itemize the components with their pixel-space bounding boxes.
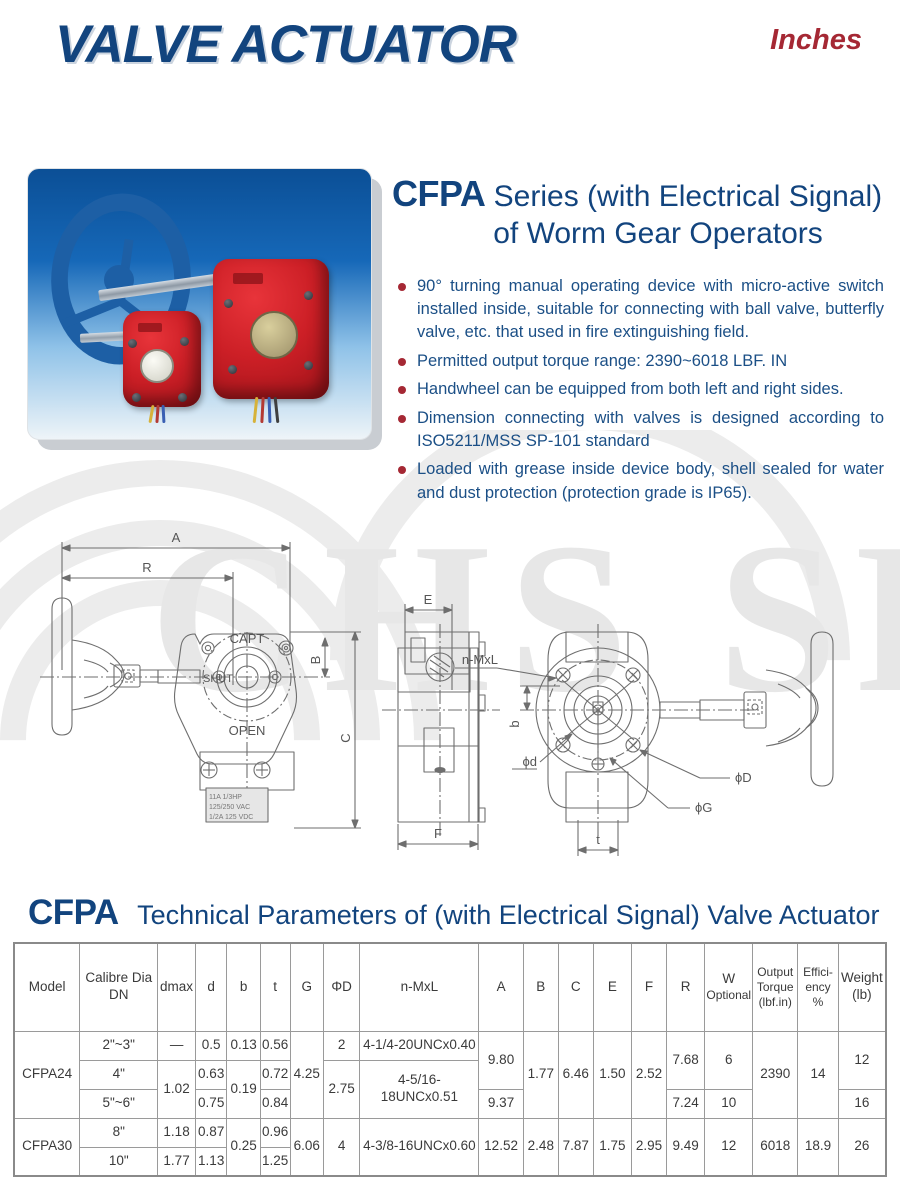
product-photo — [27, 168, 372, 440]
cell-b: 0.13 — [227, 1031, 260, 1060]
cell-model: CFPA24 — [14, 1031, 80, 1118]
col-header-g: G — [290, 943, 323, 1031]
cell-r: 7.68 — [666, 1031, 704, 1089]
cell-a: 9.37 — [479, 1089, 524, 1118]
cell-torque: 6018 — [753, 1118, 798, 1176]
dimension-label-F: F — [434, 826, 442, 841]
photo-frame — [27, 168, 372, 440]
nameplate: 11A 1/3HP 125/250 VAC 1/2A 125 VDC — [206, 788, 268, 822]
cell-t: 0.72 — [260, 1060, 290, 1089]
cell-e: 1.50 — [593, 1031, 631, 1118]
cell-nmxl: 4-1/4-20UNCx0.40 — [360, 1031, 479, 1060]
wire-icon — [260, 397, 264, 423]
dimension-label-t: t — [596, 832, 600, 847]
cell-r: 9.49 — [666, 1118, 704, 1176]
spec-table: Model Calibre Dia DN dmax d b t G ΦD n-M… — [13, 942, 887, 1177]
wire-icon — [268, 397, 272, 423]
bolt-icon — [228, 365, 237, 374]
col-header-calibre: Calibre Dia DN — [80, 943, 158, 1031]
drawing-label-phid: ϕd — [522, 754, 537, 769]
series-line1: Series (with Electrical Signal) — [494, 180, 882, 213]
drawing-label-shut: SHUT — [203, 673, 233, 685]
table-title: CFPA Technical Parameters of (with Elect… — [28, 893, 879, 933]
dimension-R: R — [62, 560, 233, 685]
cell-weight: 16 — [838, 1089, 886, 1118]
list-item-text: Loaded with grease inside device body, s… — [417, 458, 884, 505]
list-item: Handwheel can be equipped from both left… — [392, 378, 884, 401]
cell-weight: 12 — [838, 1031, 886, 1089]
col-header-d: d — [195, 943, 227, 1031]
col-header-dmax: dmax — [158, 943, 196, 1031]
col-header-b: b — [227, 943, 260, 1031]
cell-f: 2.95 — [632, 1118, 667, 1176]
col-header-calibre-l1: Calibre Dia — [81, 970, 156, 987]
cell-dn: 5"~6" — [80, 1089, 158, 1118]
datasheet-page: CHS SP VALVE ACTUATOR Inches — [0, 0, 900, 1196]
cell-a: 9.80 — [479, 1031, 524, 1089]
leader-phi-D: ϕD — [640, 750, 752, 785]
dimension-label-B: B — [308, 656, 323, 665]
cell-nmxl: 4-5/16-18UNCx0.51 — [360, 1060, 479, 1118]
cell-dmax: 1.18 — [158, 1118, 196, 1147]
cell-t: 1.25 — [260, 1147, 290, 1176]
feature-bullet-list: 90° turning manual operating device with… — [392, 275, 884, 506]
wire-icon — [274, 397, 280, 423]
list-item-text: Dimension connecting with valves is desi… — [417, 407, 884, 454]
cell-w: 10 — [705, 1089, 753, 1118]
col-header-model: Model — [14, 943, 80, 1031]
dimension-label-E: E — [424, 592, 433, 607]
table-header-row: Model Calibre Dia DN dmax d b t G ΦD n-M… — [14, 943, 886, 1031]
col-header-weight: Weight (lb) — [838, 943, 886, 1031]
cell-w: 12 — [705, 1118, 753, 1176]
dimension-F: F — [398, 824, 478, 850]
bolt-icon — [178, 393, 187, 402]
page-header: VALVE ACTUATOR Inches — [0, 0, 900, 84]
table-title-text: Technical Parameters of (with Electrical… — [137, 900, 879, 930]
cell-phid: 4 — [323, 1118, 360, 1176]
col-header-c: C — [558, 943, 593, 1031]
col-header-torque: Output Torque (lbf.in) — [753, 943, 798, 1031]
bullet-dot-icon — [398, 283, 406, 291]
cell-dn: 10" — [80, 1147, 158, 1176]
cell-dmax: 1.77 — [158, 1147, 196, 1176]
cell-b-dim: 1.77 — [523, 1031, 558, 1118]
cell-t: 0.96 — [260, 1118, 290, 1147]
cell-phid: 2.75 — [323, 1060, 360, 1118]
nameplate-line-3: 1/2A 125 VDC — [209, 814, 253, 821]
leader-phi-G: ϕG — [610, 758, 712, 815]
table-row: CFPA30 8" 1.18 0.87 0.25 0.96 6.06 4 4-3… — [14, 1118, 886, 1147]
units-label: Inches — [770, 24, 862, 57]
col-header-weight-l2: (lb) — [840, 987, 884, 1004]
bolt-icon — [224, 299, 233, 308]
cell-a: 12.52 — [479, 1118, 524, 1176]
cell-b: 0.19 — [227, 1060, 260, 1118]
col-header-nmxl: n-MxL — [360, 943, 479, 1031]
col-header-w-l1: W — [706, 971, 751, 988]
col-header-efficiency: Effici- ency % — [798, 943, 839, 1031]
drawing-label-capt: CAPT — [230, 631, 265, 646]
bolt-icon — [180, 337, 189, 346]
dimension-B: B — [308, 638, 328, 677]
cell-dn: 8" — [80, 1118, 158, 1147]
cell-w: 6 — [705, 1031, 753, 1089]
dimension-label-A: A — [172, 530, 181, 545]
cell-f: 2.52 — [632, 1031, 667, 1118]
cell-c: 7.87 — [558, 1118, 593, 1176]
bolt-icon — [304, 291, 313, 300]
wire-icon — [155, 405, 159, 423]
bolt-icon — [304, 361, 313, 370]
bolt-icon — [132, 393, 141, 402]
cell-t: 0.84 — [260, 1089, 290, 1118]
drawing-label-phiD: ϕD — [735, 770, 752, 785]
cell-phid: 2 — [323, 1031, 360, 1060]
bullet-dot-icon — [398, 386, 406, 394]
series-code: CFPA — [392, 173, 485, 214]
wire-icon — [162, 405, 166, 423]
list-item: Loaded with grease inside device body, s… — [392, 458, 884, 505]
dimension-label-R: R — [142, 560, 151, 575]
col-header-torque-l2: Torque — [754, 980, 796, 995]
bullet-dot-icon — [398, 358, 406, 366]
col-header-calibre-l2: DN — [81, 987, 156, 1004]
cell-model: CFPA30 — [14, 1118, 80, 1176]
dimension-label-C: C — [338, 733, 353, 742]
indicator-dial-small — [140, 349, 174, 383]
col-header-w-l2: Optional — [706, 988, 751, 1003]
cell-d: 0.87 — [195, 1118, 227, 1147]
cell-nmxl: 4-3/8-16UNCx0.60 — [360, 1118, 479, 1176]
cell-d: 0.75 — [195, 1089, 227, 1118]
list-item-text: 90° turning manual operating device with… — [417, 275, 884, 345]
drawing-label-phiG: ϕG — [695, 800, 712, 815]
wire-icon — [253, 397, 259, 423]
col-header-f: F — [632, 943, 667, 1031]
col-header-eff-l1: Effici- — [799, 965, 837, 980]
indicator-dial-large — [250, 311, 298, 359]
series-heading: CFPA Series (with Electrical Signal) of … — [392, 172, 884, 253]
bullet-dot-icon — [398, 466, 406, 474]
cell-dmax: — — [158, 1031, 196, 1060]
table-row: CFPA24 2"~3" — 0.5 0.13 0.56 4.25 2 4-1/… — [14, 1031, 886, 1060]
cell-d: 0.5 — [195, 1031, 227, 1060]
cell-dn: 4" — [80, 1060, 158, 1089]
bolt-icon — [128, 339, 137, 348]
drawing-label-open: OPEN — [229, 723, 266, 738]
intro-column: CFPA Series (with Electrical Signal) of … — [392, 172, 884, 510]
dimension-label-b: b — [507, 720, 522, 727]
nameplate-line-2: 125/250 VAC — [209, 804, 250, 811]
cell-efficiency: 18.9 — [798, 1118, 839, 1176]
table-title-code: CFPA — [28, 893, 119, 932]
cell-weight: 26 — [838, 1118, 886, 1176]
cell-d: 1.13 — [195, 1147, 227, 1176]
cell-d: 0.63 — [195, 1060, 227, 1089]
col-header-eff-l2: ency — [799, 980, 837, 995]
drawing-right-view: n-MxL b ϕd — [455, 624, 833, 856]
cell-g: 4.25 — [290, 1031, 323, 1118]
col-header-a: A — [479, 943, 524, 1031]
body-label-plate — [233, 273, 263, 284]
actuator-body-left: CAPT SHUT OPEN 11A 1/3HP 125/250 VAC 1/2… — [40, 631, 330, 822]
list-item-text: Handwheel can be equipped from both left… — [417, 378, 884, 401]
cell-b-dim: 2.48 — [523, 1118, 558, 1176]
series-line2: of Worm Gear Operators — [392, 216, 884, 253]
col-header-torque-l1: Output — [754, 965, 796, 980]
drawing-label-nmxl: n-MxL — [462, 652, 498, 667]
cell-dmax: 1.02 — [158, 1060, 196, 1118]
dimension-b: b — [507, 686, 560, 728]
col-header-w: W Optional — [705, 943, 753, 1031]
cell-e: 1.75 — [593, 1118, 631, 1176]
list-item: Permitted output torque range: 2390~6018… — [392, 350, 884, 373]
col-header-weight-l1: Weight — [840, 970, 884, 987]
nameplate-line-1: 11A 1/3HP — [209, 794, 242, 801]
cell-t: 0.56 — [260, 1031, 290, 1060]
cell-b: 0.25 — [227, 1118, 260, 1176]
bullet-dot-icon — [398, 415, 406, 423]
drawing-middle-view: E — [382, 592, 500, 850]
cell-c: 6.46 — [558, 1031, 593, 1118]
cell-dn: 2"~3" — [80, 1031, 158, 1060]
dimension-A: A — [62, 530, 290, 670]
page-title: VALVE ACTUATOR — [55, 14, 516, 75]
cell-torque: 2390 — [753, 1031, 798, 1118]
col-header-e: E — [593, 943, 631, 1031]
cell-g: 6.06 — [290, 1118, 323, 1176]
body-label-plate — [138, 323, 162, 332]
drawing-left-view: A R — [40, 530, 361, 828]
wire-icon — [148, 405, 154, 423]
col-header-eff-l3: % — [799, 995, 837, 1010]
technical-drawings: A R — [0, 520, 900, 885]
col-header-b-dim: B — [523, 943, 558, 1031]
list-item: Dimension connecting with valves is desi… — [392, 407, 884, 454]
cell-r: 7.24 — [666, 1089, 704, 1118]
list-item-text: Permitted output torque range: 2390~6018… — [417, 350, 884, 373]
col-header-t: t — [260, 943, 290, 1031]
cell-efficiency: 14 — [798, 1031, 839, 1118]
col-header-torque-l3: (lbf.in) — [754, 995, 796, 1010]
list-item: 90° turning manual operating device with… — [392, 275, 884, 345]
col-header-r: R — [666, 943, 704, 1031]
col-header-phid: ΦD — [323, 943, 360, 1031]
